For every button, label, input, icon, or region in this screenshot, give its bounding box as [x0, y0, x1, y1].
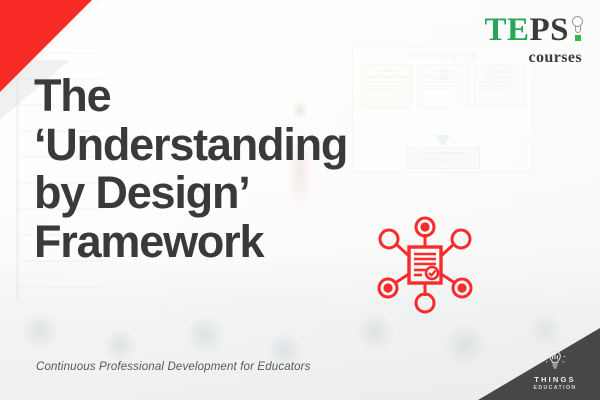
teps-sub-label: courses: [484, 50, 582, 66]
teps-logo: TEPS courses: [484, 14, 584, 66]
document-network-icon: [374, 214, 476, 316]
page-title-line-1: The: [34, 72, 464, 121]
poster-canvas: Understanding by Design STAGE 1 Identify…: [0, 0, 600, 400]
things-label-primary: THINGS: [524, 375, 586, 384]
teps-wordmark-dark: PS: [529, 14, 569, 47]
page-title-line-2: ‘Understanding: [34, 121, 464, 170]
things-label-secondary: EDUCATION: [524, 385, 586, 391]
page-title-line-3: by Design’: [34, 169, 464, 218]
teps-wordmark-green: TE: [484, 14, 529, 47]
teps-bulb-icon: [571, 16, 584, 42]
things-education-logo: THINGS EDUCATION: [524, 346, 586, 392]
teps-wordmark: TEPS: [484, 14, 584, 47]
lightbulb-icon: [542, 346, 568, 372]
subtitle: Continuous Professional Development for …: [36, 361, 311, 373]
